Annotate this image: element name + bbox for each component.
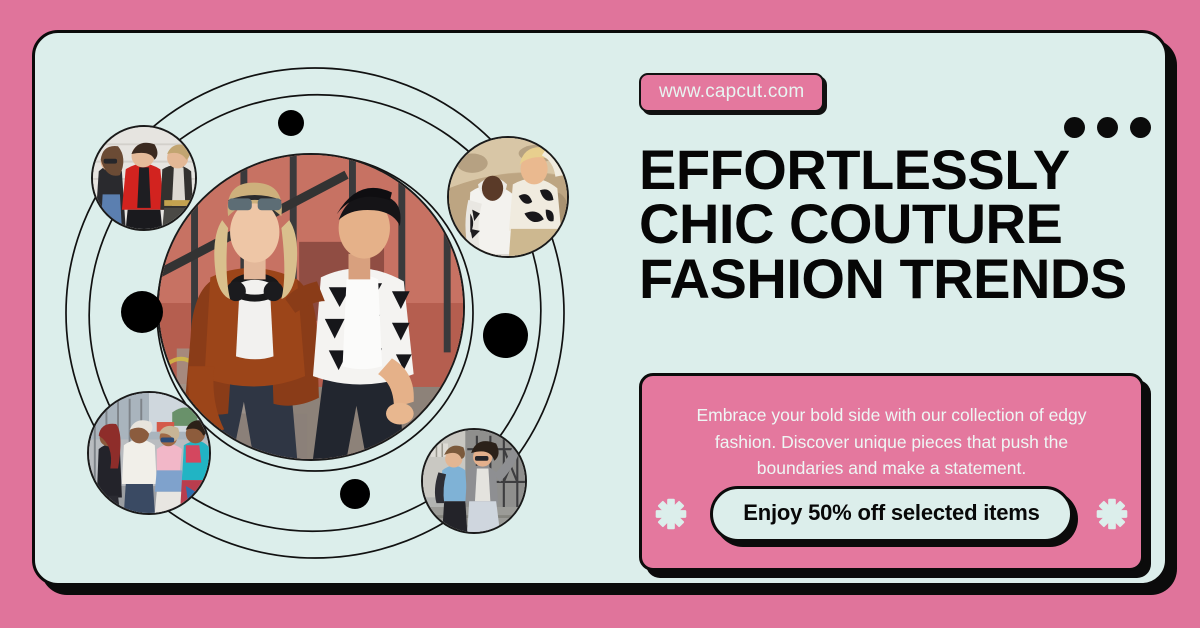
headline-line-3: Fashion Trends [639,252,1139,306]
collage-thumb-bottom-left [87,391,211,515]
collage-thumb-bottom-right [421,428,527,534]
asterisk-icon [654,497,688,531]
orbit-dot-top [278,110,304,136]
cta-row: Enjoy 50% off selected items [642,486,1141,542]
menu-dot-icon [1064,117,1085,138]
orbit-dot-right [483,313,528,358]
main-card: www.capcut.com Effortlessly Chic Couture… [32,30,1168,586]
menu-dot-icon [1130,117,1151,138]
page-title: Effortlessly Chic Couture Fashion Trends [639,143,1139,306]
menu-dot-icon [1097,117,1118,138]
asterisk-icon [1095,497,1129,531]
cta-button[interactable]: Enjoy 50% off selected items [710,486,1072,542]
orbit-dot-left [121,291,163,333]
headline-line-1: Effortlessly [639,143,1139,197]
headline-line-2: Chic Couture [639,197,1139,251]
collage-thumb-top-right [447,136,569,258]
website-url-badge[interactable]: www.capcut.com [639,73,824,112]
poster-canvas: www.capcut.com Effortlessly Chic Couture… [0,0,1200,628]
orbit-dot-bottom [340,479,370,509]
collage-thumb-top-left [91,125,197,231]
content-column: www.capcut.com Effortlessly Chic Couture… [639,73,1139,306]
promo-description: Embrace your bold side with our collecti… [642,376,1141,482]
menu-dots[interactable] [1064,117,1151,138]
promo-panel: Embrace your bold side with our collecti… [639,373,1144,571]
photo-collage [43,41,603,581]
